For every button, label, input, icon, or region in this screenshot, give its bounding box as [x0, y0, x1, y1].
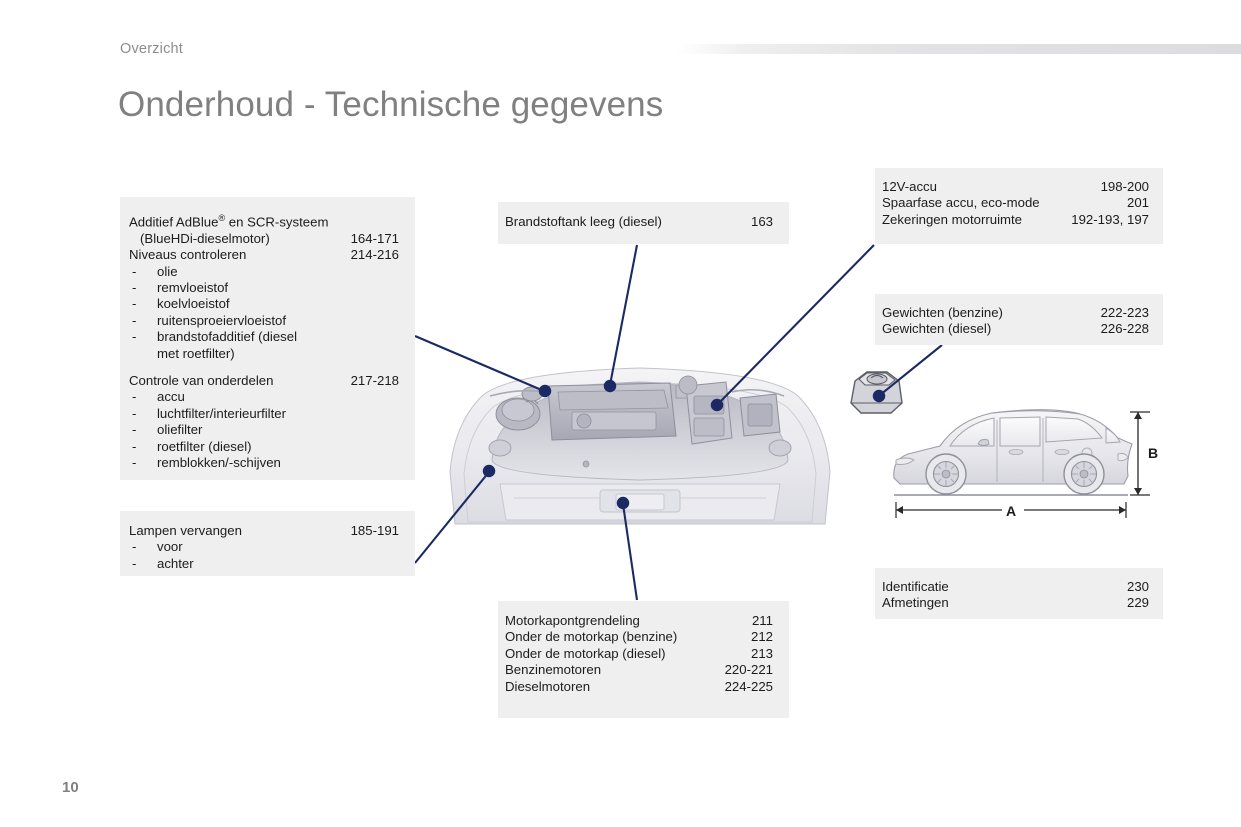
- spacer: [129, 362, 399, 373]
- row-label: (BlueHDi-dieselmotor): [129, 231, 270, 247]
- row-lampen: Lampen vervangen 185-191: [129, 523, 399, 539]
- panel-fuel-rows: Brandstoftank leeg (diesel) 163: [505, 214, 773, 230]
- row-page: 213: [751, 646, 773, 662]
- page-title: Onderhoud - Technische gegevens: [118, 85, 663, 125]
- page-number: 10: [62, 779, 79, 796]
- panel-identification: Identificatie 230 Afmetingen 229: [875, 568, 1163, 619]
- row-label: Dieselmotoren: [505, 679, 590, 695]
- row-page: 222-223: [1101, 305, 1149, 321]
- row-label: Spaarfase accu, eco-mode: [882, 195, 1040, 211]
- row-niveaus: Niveaus controleren 214-216: [129, 247, 399, 263]
- list-item: oliefilter: [129, 422, 399, 438]
- row-identificatie: Identificatie 230: [882, 579, 1149, 595]
- header-rule: [676, 44, 1241, 54]
- row-12v-accu: 12V-accu 198-200: [882, 179, 1149, 195]
- row-label: Niveaus controleren: [129, 247, 246, 263]
- panel-lamps: Lampen vervangen 185-191 voor achter: [120, 511, 415, 576]
- panel-weights-rows: Gewichten (benzine) 222-223 Gewichten (d…: [882, 305, 1149, 338]
- list-item: achter: [129, 556, 399, 572]
- row-motorkap-benzine: Onder de motorkap (benzine) 212: [505, 629, 773, 645]
- panel-battery: 12V-accu 198-200 Spaarfase accu, eco-mod…: [875, 168, 1163, 244]
- list-item: olie: [129, 264, 399, 280]
- panel-weights: Gewichten (benzine) 222-223 Gewichten (d…: [875, 294, 1163, 345]
- row-zekeringen: Zekeringen motorruimte 192-193, 197: [882, 212, 1149, 228]
- list-item: ruitensproeiervloeistof: [129, 313, 399, 329]
- row-label: Onder de motorkap (benzine): [505, 629, 677, 645]
- list-item: luchtfilter/interieurfilter: [129, 406, 399, 422]
- row-page: 192-193, 197: [1071, 212, 1149, 228]
- row-label: Gewichten (benzine): [882, 305, 1003, 321]
- row-motorkap-diesel: Onder de motorkap (diesel) 213: [505, 646, 773, 662]
- dimension-label-a: A: [1006, 503, 1016, 519]
- row-label: Brandstoftank leeg (diesel): [505, 214, 662, 230]
- row-label: Zekeringen motorruimte: [882, 212, 1022, 228]
- list-item-continuation: met roetfilter): [129, 346, 399, 362]
- row-page: 211: [752, 613, 773, 629]
- row-page: 226-228: [1101, 321, 1149, 337]
- row-page: 217-218: [351, 373, 399, 389]
- row-page: 230: [1127, 579, 1149, 595]
- list-item: brandstofadditief (diesel: [129, 329, 399, 345]
- panel-maintenance-rows: Additief AdBlue® en SCR-systeem (BlueHDi…: [129, 210, 399, 471]
- car-side-view-illustration: B A: [880, 398, 1165, 526]
- panel-lamps-rows: Lampen vervangen 185-191 voor achter: [129, 523, 399, 572]
- row-page: 163: [751, 214, 773, 230]
- row-adblue: Additief AdBlue® en SCR-systeem: [129, 210, 399, 231]
- row-label: Additief AdBlue® en SCR-systeem: [129, 210, 328, 231]
- row-page: 224-225: [725, 679, 773, 695]
- panel-maintenance: Additief AdBlue® en SCR-systeem (BlueHDi…: [120, 197, 415, 480]
- row-label: 12V-accu: [882, 179, 937, 195]
- list-item: remvloeistof: [129, 280, 399, 296]
- row-page: 229: [1127, 595, 1149, 611]
- row-motorkapontgrendeling: Motorkapontgrendeling 211: [505, 613, 773, 629]
- row-label: Lampen vervangen: [129, 523, 242, 539]
- engine-bay-illustration: [440, 352, 840, 532]
- row-label: Identificatie: [882, 579, 949, 595]
- row-bluehdi: (BlueHDi-dieselmotor) 164-171: [129, 231, 399, 247]
- panel-fuel-tank: Brandstoftank leeg (diesel) 163: [498, 202, 789, 244]
- row-spaarfase: Spaarfase accu, eco-mode 201: [882, 195, 1149, 211]
- row-benzinemotoren: Benzinemotoren 220-221: [505, 662, 773, 678]
- row-dieselmotoren: Dieselmotoren 224-225: [505, 679, 773, 695]
- row-page: 214-216: [351, 247, 399, 263]
- row-label: Motorkapontgrendeling: [505, 613, 640, 629]
- list-item: roetfilter (diesel): [129, 439, 399, 455]
- manual-page: Overzicht Onderhoud - Technische gegeven…: [0, 0, 1241, 827]
- row-label: Gewichten (diesel): [882, 321, 991, 337]
- list-item: accu: [129, 389, 399, 405]
- row-page: 164-171: [351, 231, 399, 247]
- row-label: Afmetingen: [882, 595, 949, 611]
- list-item: koelvloeistof: [129, 296, 399, 312]
- row-page: 220-221: [725, 662, 773, 678]
- dimension-label-b: B: [1148, 445, 1158, 461]
- panel-identification-rows: Identificatie 230 Afmetingen 229: [882, 579, 1149, 612]
- row-gewichten-diesel: Gewichten (diesel) 226-228: [882, 321, 1149, 337]
- row-gewichten-benzine: Gewichten (benzine) 222-223: [882, 305, 1149, 321]
- row-page: 185-191: [351, 523, 399, 539]
- row-brandstoftank: Brandstoftank leeg (diesel) 163: [505, 214, 773, 230]
- list-item: voor: [129, 539, 399, 555]
- breadcrumb: Overzicht: [120, 41, 183, 57]
- list-item: remblokken/-schijven: [129, 455, 399, 471]
- row-label: Benzinemotoren: [505, 662, 601, 678]
- row-afmetingen: Afmetingen 229: [882, 595, 1149, 611]
- row-page: 198-200: [1101, 179, 1149, 195]
- panel-hood: Motorkapontgrendeling 211 Onder de motor…: [498, 601, 789, 718]
- row-label: Controle van onderdelen: [129, 373, 273, 389]
- panel-battery-rows: 12V-accu 198-200 Spaarfase accu, eco-mod…: [882, 179, 1149, 228]
- row-controle: Controle van onderdelen 217-218: [129, 373, 399, 389]
- row-page: 212: [751, 629, 773, 645]
- row-label: Onder de motorkap (diesel): [505, 646, 666, 662]
- row-page: 201: [1127, 195, 1149, 211]
- panel-hood-rows: Motorkapontgrendeling 211 Onder de motor…: [505, 613, 773, 695]
